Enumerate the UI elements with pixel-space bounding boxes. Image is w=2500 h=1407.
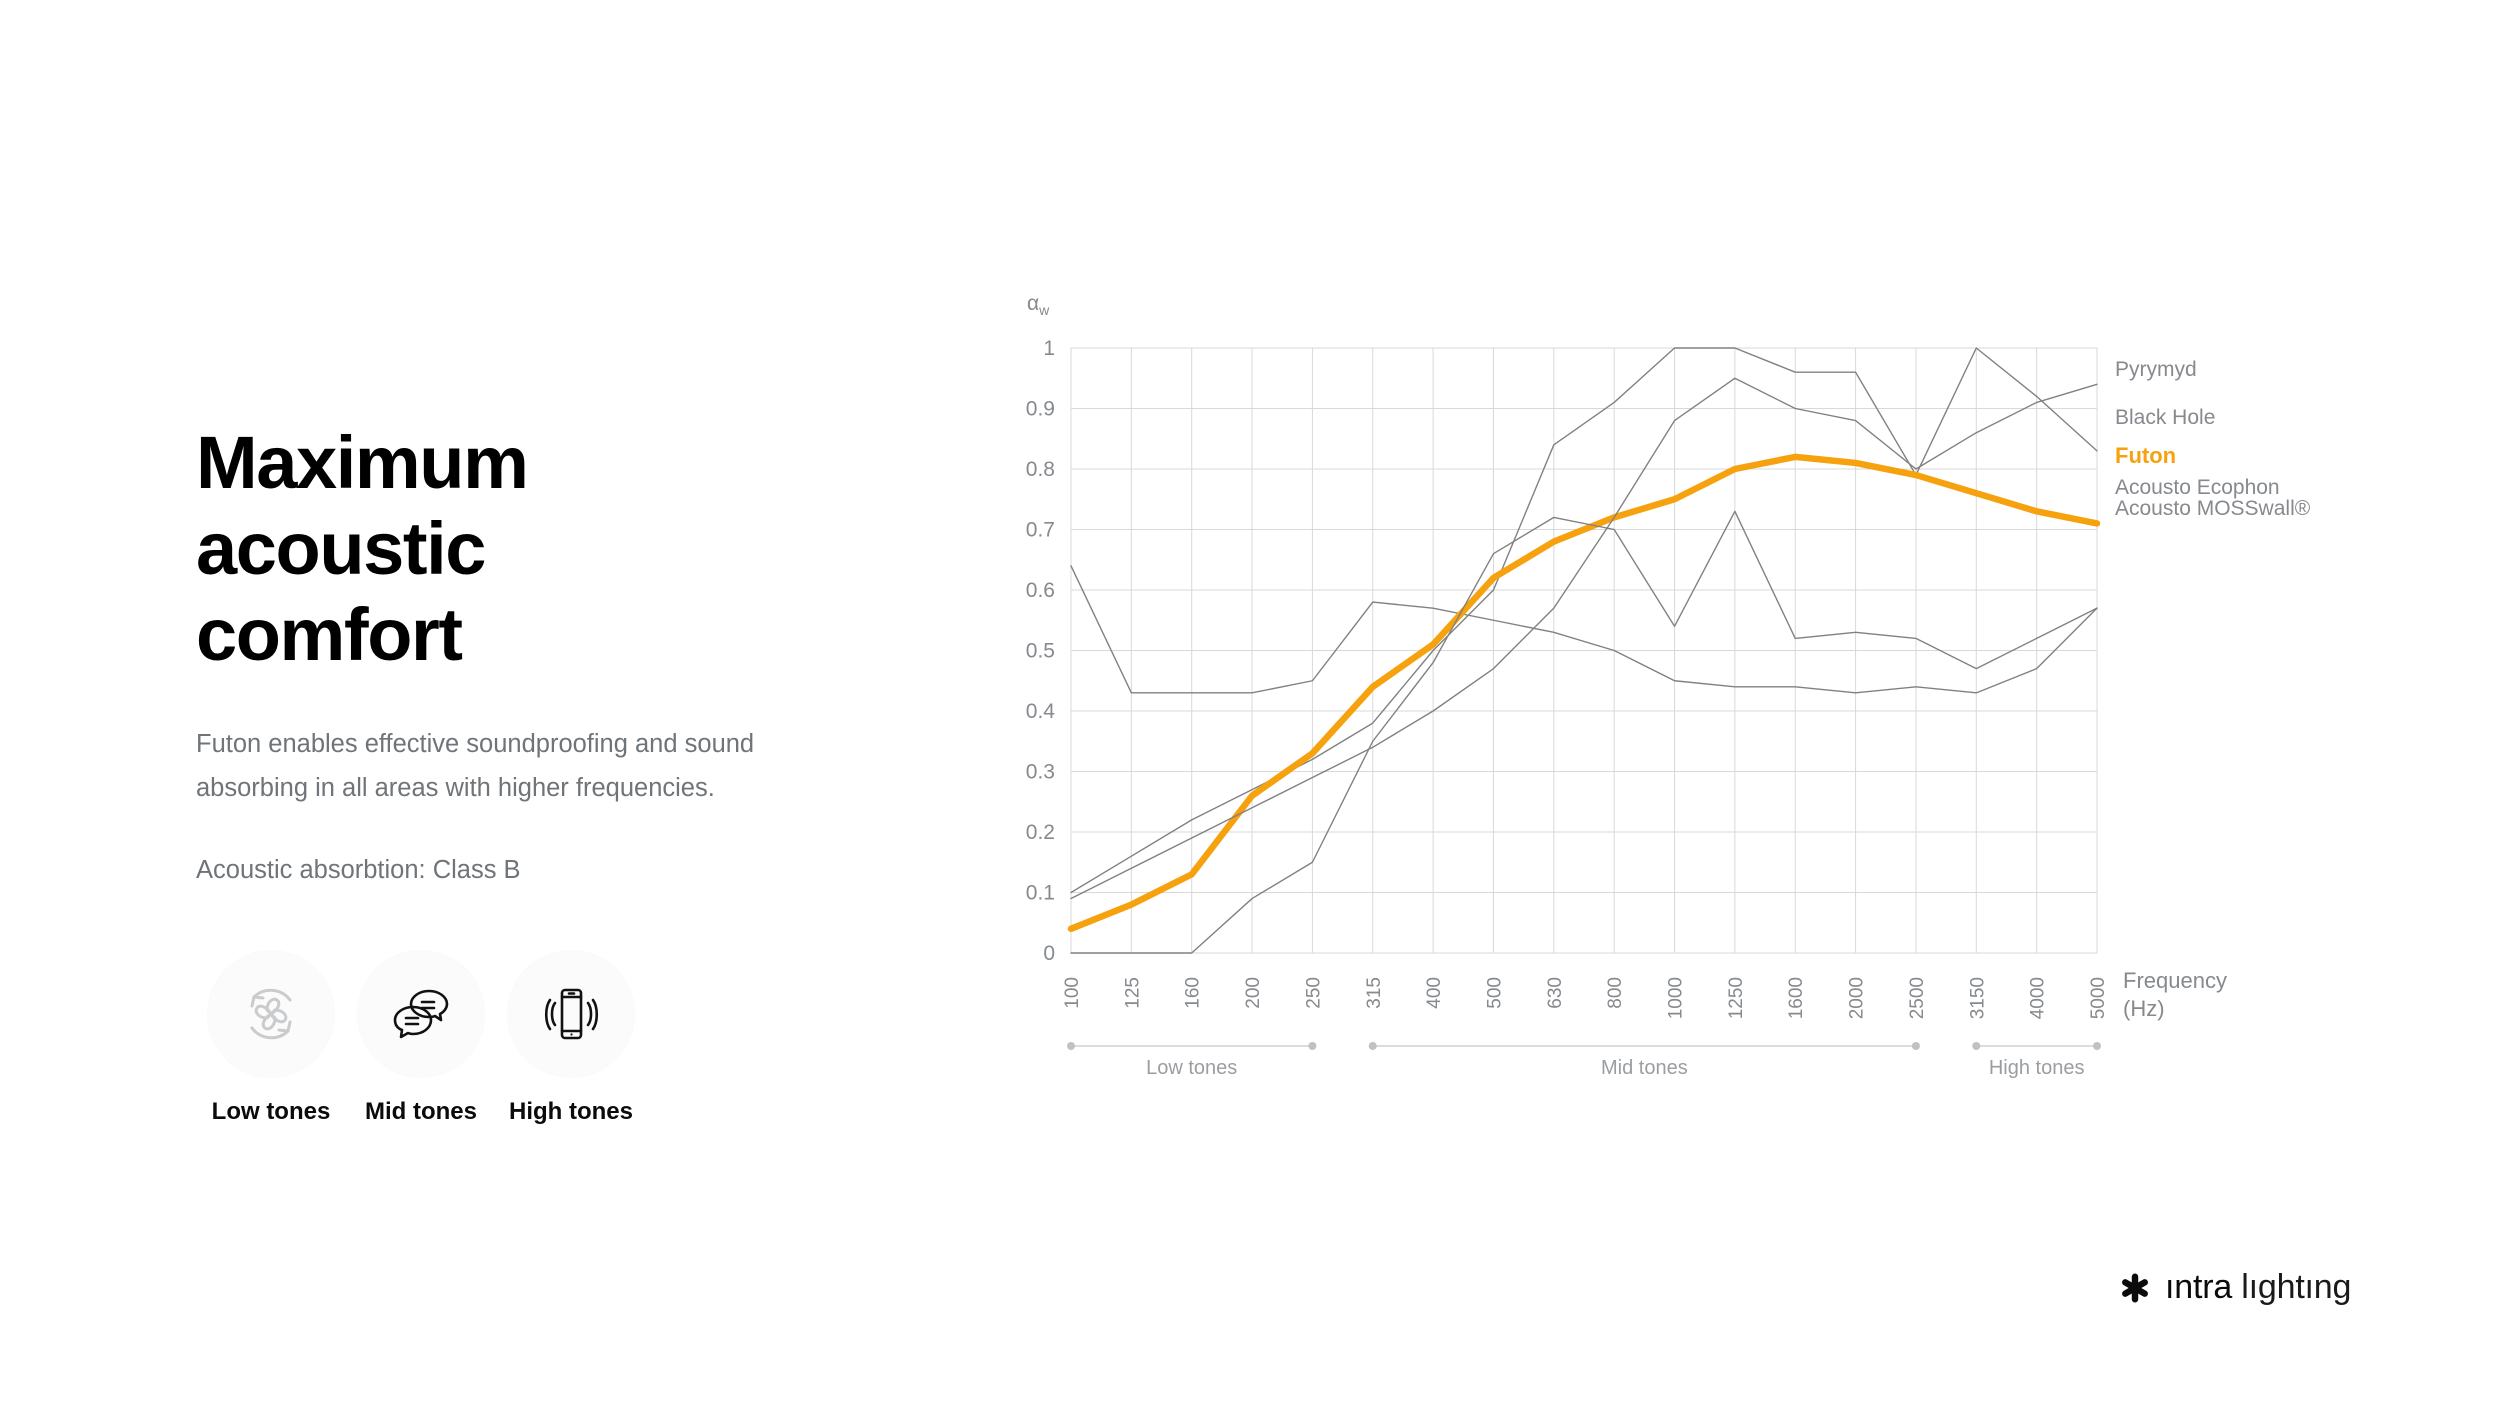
y-tick-label: 0.8 (1026, 458, 1055, 481)
x-tick-label: 315 (1364, 977, 1385, 1009)
y-tick-label: 1 (1043, 337, 1055, 360)
tone-circle-mid (357, 950, 485, 1078)
y-tick-label: 0.2 (1026, 821, 1055, 844)
chart-y-axis-labels: 10.90.80.70.60.50.40.30.20.10 (1026, 337, 1056, 965)
tone-band-label: High tones (1989, 1057, 2085, 1079)
chart-gridlines (1071, 348, 2097, 953)
x-tick-label: 5000 (2088, 977, 2109, 1019)
y-tick-label: 0.7 (1026, 519, 1055, 542)
legend-item-acousto-ecophon[interactable]: Acousto Ecophon (2115, 476, 2280, 499)
tone-label-high: High tones (509, 1098, 633, 1126)
intro-panel: Maximum acoustic comfort Futon enables e… (196, 420, 836, 912)
x-tick-label: 2000 (1847, 977, 1868, 1019)
acoustic-absorption-chart: 10.90.80.70.60.50.40.30.20.10 1001251602… (990, 270, 2450, 1100)
x-tick-label: 2500 (1907, 977, 1928, 1019)
fan-rotation-icon (234, 977, 308, 1051)
tone-label-mid: Mid tones (365, 1098, 477, 1126)
y-tick-label: 0.4 (1026, 700, 1056, 723)
intra-lighting-logo: ıntra lıghtıng (2118, 1268, 2351, 1307)
chart-x-axis-labels: 1001251602002503154005006308001000125016… (1062, 977, 2109, 1019)
asterisk-icon (2118, 1271, 2152, 1305)
x-tick-label: 3150 (1967, 977, 1988, 1019)
x-tick-label: 1250 (1726, 977, 1747, 1019)
chart-tone-bands: Low tonesMid tonesHigh tones (1067, 1042, 2101, 1079)
x-tick-label: 800 (1605, 977, 1626, 1009)
y-tick-label: 0.5 (1026, 640, 1055, 663)
series-line-acousto-ecophon (1071, 378, 2097, 898)
x-tick-label: 400 (1424, 977, 1445, 1009)
chart-x-axis-title: Frequency(Hz) (2123, 968, 2227, 1021)
speech-bubbles-icon (384, 977, 458, 1051)
x-tick-label: 160 (1183, 977, 1204, 1009)
x-tick-label: 125 (1122, 977, 1143, 1009)
y-tick-label: 0.3 (1026, 761, 1055, 784)
y-tick-label: 0 (1043, 942, 1055, 965)
tone-circle-high (507, 950, 635, 1078)
series-line-acousto-mosswall (1071, 511, 2097, 953)
tone-item-low: Low tones (196, 950, 346, 1126)
tone-legend-icons: Low tones Mid tones (196, 950, 646, 1126)
logo-brand: ıntra (2165, 1268, 2232, 1306)
chart-legend: PyrymydBlack HoleFutonAcousto EcophonAco… (2115, 358, 2311, 520)
tone-circle-low (207, 950, 335, 1078)
tone-band-label: Low tones (1146, 1057, 1237, 1079)
y-tick-label: 0.9 (1026, 398, 1055, 421)
vibrating-phone-icon (534, 977, 608, 1051)
tone-item-high: High tones (496, 950, 646, 1126)
tone-label-low: Low tones (212, 1098, 331, 1126)
acoustic-absorption-line: Acoustic absorbtion: Class B (196, 854, 836, 886)
x-tick-label: 4000 (2028, 977, 2049, 1019)
x-tick-label: 630 (1545, 977, 1566, 1009)
logo-wordmark: ıntra lıghtıng (2165, 1268, 2351, 1307)
legend-item-pyrymyd[interactable]: Pyrymyd (2115, 358, 2197, 381)
series-line-pyrymyd (1071, 566, 2097, 693)
x-tick-label: 1600 (1786, 977, 1807, 1019)
y-tick-label: 0.6 (1026, 579, 1055, 602)
x-tick-label: 200 (1243, 977, 1264, 1009)
legend-item-acousto-mosswall[interactable]: Acousto MOSSwall® (2115, 497, 2311, 520)
legend-item-futon[interactable]: Futon (2115, 443, 2176, 468)
x-axis-title-line: Frequency (2123, 968, 2227, 993)
tone-item-mid: Mid tones (346, 950, 496, 1126)
legend-item-black-hole[interactable]: Black Hole (2115, 406, 2215, 429)
chart-y-axis-title: αw (1027, 292, 1050, 318)
x-axis-title-line: (Hz) (2123, 996, 2165, 1021)
x-tick-label: 1000 (1666, 977, 1687, 1019)
x-tick-label: 500 (1484, 977, 1505, 1009)
x-tick-label: 100 (1062, 977, 1083, 1009)
logo-suffix: lıghtıng (2241, 1268, 2351, 1306)
series-line-black-hole (1071, 348, 2097, 893)
tone-band-label: Mid tones (1601, 1057, 1688, 1079)
page-title: Maximum acoustic comfort (196, 420, 836, 678)
y-tick-label: 0.1 (1026, 882, 1055, 905)
x-tick-label: 250 (1303, 977, 1324, 1009)
body-paragraph: Futon enables effective soundproofing an… (196, 722, 796, 810)
chart-svg: 10.90.80.70.60.50.40.30.20.10 1001251602… (990, 270, 2450, 1100)
